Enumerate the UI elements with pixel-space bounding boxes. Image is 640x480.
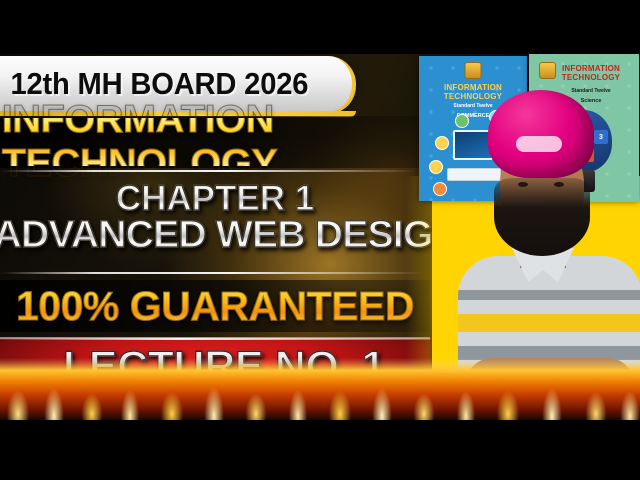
chapter-label: CHAPTER 1 [0, 179, 430, 219]
cart-icon [435, 136, 449, 150]
youtube-thumbnail: ported05) RetrieveSyste // end locked re… [0, 0, 640, 480]
letterbox-bottom [0, 420, 640, 480]
money-icon [433, 182, 447, 196]
board-crest-icon-left [465, 62, 482, 79]
guarantee-text: 100% GUARANTEED [0, 283, 430, 330]
subject-title: INFORMATION TECHNOLOGY [2, 118, 439, 166]
presenter-beard [494, 178, 590, 256]
magnifier-icon [429, 160, 443, 174]
chapter-topic: ADVANCED WEB DESIGNING [0, 214, 438, 257]
book-title-right: INFORMATION TECHNOLOGY [543, 64, 639, 82]
letterbox-top [0, 0, 640, 54]
flame-strip [0, 358, 640, 420]
thumbnail-content-area: ported05) RetrieveSyste // end locked re… [0, 54, 640, 420]
divider-rule-mid [0, 272, 424, 274]
divider-rule-top [0, 170, 418, 172]
presenter-turban [488, 90, 594, 178]
